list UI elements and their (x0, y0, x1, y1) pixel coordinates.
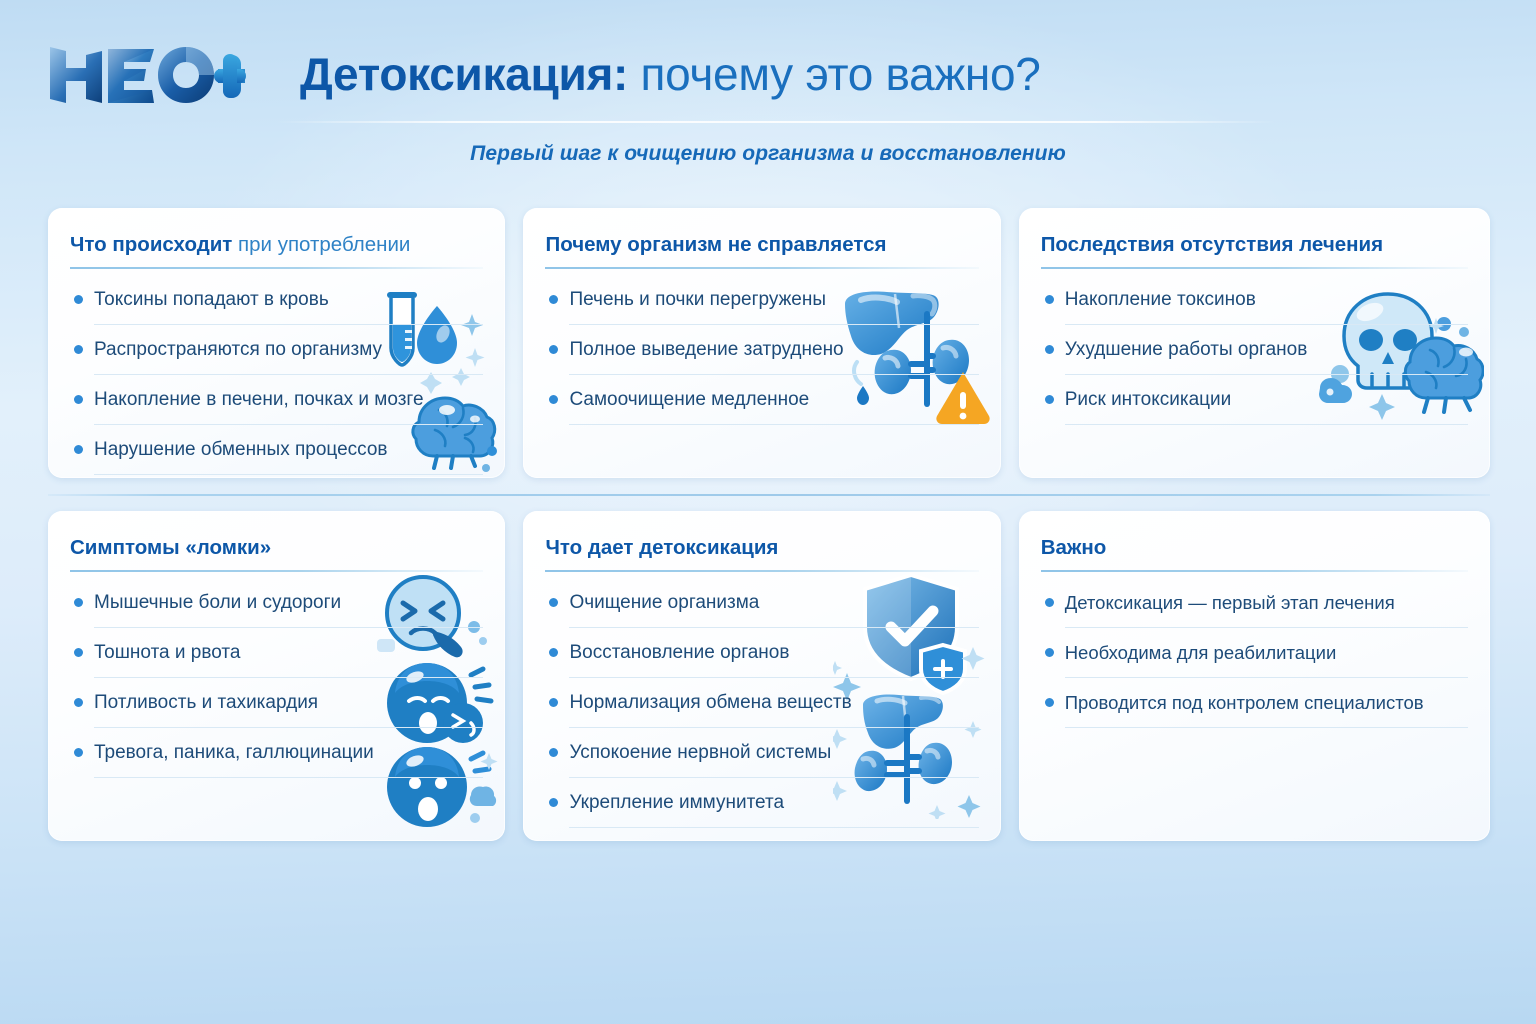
page-subtitle: Первый шаг к очищению организма и восста… (0, 142, 1536, 166)
card-title-underline (545, 570, 978, 572)
cards-row-top: Что происходит при употреблении (48, 208, 1490, 478)
list-item-label: Риск интоксикации (1065, 385, 1468, 425)
list-item-label: Необходима для реабилитации (1065, 638, 1468, 678)
card-bullet-list: Мышечные боли и судороги Тошнота и рвота… (70, 588, 483, 788)
list-item-label: Накопление токсинов (1065, 285, 1468, 325)
page-title-secondary: почему это важно? (628, 48, 1041, 100)
list-item: Нарушение обменных процессов (70, 435, 483, 478)
card-title: Симптомы «ломки» (70, 535, 483, 561)
card-bullet-list: Токсины попадают в кровь Распространяютс… (70, 285, 483, 478)
title-divider (276, 121, 1276, 123)
bullet-dot-icon (549, 295, 558, 304)
cards-row-bottom: Симптомы «ломки» (48, 511, 1490, 841)
bullet-dot-icon (74, 395, 83, 404)
bullet-dot-icon (1045, 395, 1054, 404)
card-what-happens[interactable]: Что происходит при употреблении (48, 208, 505, 478)
bullet-dot-icon (549, 598, 558, 607)
list-item-label: Тревога, паника, галлюцинации (94, 738, 483, 778)
list-item-label: Детоксикация — первый этап лечения (1065, 588, 1468, 628)
list-item-label: Ухудшение работы органов (1065, 335, 1468, 375)
page-header: Детоксикация: почему это важно? Первый ш… (0, 0, 1536, 190)
list-item: Накопление в печени, почках и мозге (70, 385, 483, 435)
card-bullet-list: Накопление токсинов Ухудшение работы орг… (1041, 285, 1468, 435)
card-title: Что дает детоксикация (545, 535, 978, 561)
card-title: Что происходит при употреблении (70, 232, 483, 258)
list-item-label: Токсины попадают в кровь (94, 285, 483, 325)
list-item-label: Распространяются по организму (94, 335, 483, 375)
card-title-underline (1041, 267, 1468, 269)
bullet-dot-icon (1045, 648, 1054, 657)
list-item-label: Восстановление органов (569, 638, 978, 678)
list-item: Токсины попадают в кровь (70, 285, 483, 335)
card-title-secondary: при употреблении (232, 233, 410, 256)
card-consequences[interactable]: Последствия отсутствия лечения (1019, 208, 1490, 478)
page-title-primary: Детоксикация: (300, 48, 628, 100)
list-item-label: Укрепление иммунитета (569, 788, 978, 828)
card-title-underline (1041, 570, 1468, 572)
bullet-dot-icon (549, 698, 558, 707)
list-item: Распространяются по организму (70, 335, 483, 385)
card-title-primary: Последствия отсутствия лечения (1041, 233, 1383, 256)
list-item-label: Очищение организма (569, 588, 978, 628)
list-item-label: Нормализация обмена веществ (569, 688, 978, 728)
card-why-body-fails[interactable]: Почему организм не справляется (523, 208, 1000, 478)
list-item: Восстановление органов (545, 638, 978, 688)
card-important[interactable]: Важно Детоксикация — первый этап лечения… (1019, 511, 1490, 841)
list-item: Печень и почки перегружены (545, 285, 978, 335)
list-item: Детоксикация — первый этап лечения (1041, 588, 1468, 638)
neo-plus-logo (46, 41, 246, 107)
bullet-dot-icon (74, 648, 83, 657)
bullet-dot-icon (1045, 295, 1054, 304)
card-title: Почему организм не справляется (545, 232, 978, 258)
list-item-label: Полное выведение затруднено (569, 335, 978, 375)
list-item-label: Нарушение обменных процессов (94, 435, 483, 475)
list-item: Нормализация обмена веществ (545, 688, 978, 738)
card-title-primary: Важно (1041, 536, 1107, 559)
list-item: Очищение организма (545, 588, 978, 638)
bullet-dot-icon (549, 345, 558, 354)
card-bullet-list: Детоксикация — первый этап лечения Необх… (1041, 588, 1468, 738)
bullet-dot-icon (549, 748, 558, 757)
bullet-dot-icon (549, 395, 558, 404)
bullet-dot-icon (549, 648, 558, 657)
list-item: Потливость и тахикардия (70, 688, 483, 738)
list-item: Укрепление иммунитета (545, 788, 978, 838)
list-item: Необходима для реабилитации (1041, 638, 1468, 688)
list-item-label: Потливость и тахикардия (94, 688, 483, 728)
card-bullet-list: Печень и почки перегружены Полное выведе… (545, 285, 978, 435)
bullet-dot-icon (1045, 345, 1054, 354)
card-bullet-list: Очищение организма Восстановление органо… (545, 588, 978, 838)
list-item: Успокоение нервной системы (545, 738, 978, 788)
card-title-primary: Почему организм не справляется (545, 233, 886, 256)
list-item-label: Тошнота и рвота (94, 638, 483, 678)
card-title: Последствия отсутствия лечения (1041, 232, 1468, 258)
bullet-dot-icon (74, 598, 83, 607)
list-item: Тошнота и рвота (70, 638, 483, 688)
list-item: Самоочищение медленное (545, 385, 978, 435)
card-title-primary: Что дает детоксикация (545, 536, 778, 559)
bullet-dot-icon (74, 345, 83, 354)
card-title-underline (70, 570, 483, 572)
list-item-label: Успокоение нервной системы (569, 738, 978, 778)
card-title-primary: Что происходит (70, 233, 232, 256)
list-item: Проводится под контролем специалистов (1041, 688, 1468, 738)
bullet-dot-icon (74, 445, 83, 454)
bullet-dot-icon (74, 698, 83, 707)
page-title: Детоксикация: почему это важно? (300, 44, 1041, 104)
list-item-label: Мышечные боли и судороги (94, 588, 483, 628)
list-item-label: Самоочищение медленное (569, 385, 978, 425)
list-item: Риск интоксикации (1041, 385, 1468, 435)
list-item-label: Накопление в печени, почках и мозге (94, 385, 483, 425)
card-title-underline (70, 267, 483, 269)
list-item: Ухудшение работы органов (1041, 335, 1468, 385)
list-item: Полное выведение затруднено (545, 335, 978, 385)
list-item: Мышечные боли и судороги (70, 588, 483, 638)
bullet-dot-icon (1045, 698, 1054, 707)
list-item: Тревога, паника, галлюцинации (70, 738, 483, 788)
card-withdrawal-symptoms[interactable]: Симптомы «ломки» (48, 511, 505, 841)
cards-grid: Что происходит при употреблении (48, 208, 1490, 841)
bullet-dot-icon (74, 748, 83, 757)
bullet-dot-icon (74, 295, 83, 304)
card-title-primary: Симптомы «ломки» (70, 536, 271, 559)
bullet-dot-icon (1045, 598, 1054, 607)
bullet-dot-icon (549, 798, 558, 807)
list-item-label: Проводится под контролем специалистов (1065, 688, 1468, 728)
card-title-underline (545, 267, 978, 269)
list-item-label: Печень и почки перегружены (569, 285, 978, 325)
card-title: Важно (1041, 535, 1468, 561)
card-detox-benefits[interactable]: Что дает детоксикация (523, 511, 1000, 841)
list-item: Накопление токсинов (1041, 285, 1468, 335)
